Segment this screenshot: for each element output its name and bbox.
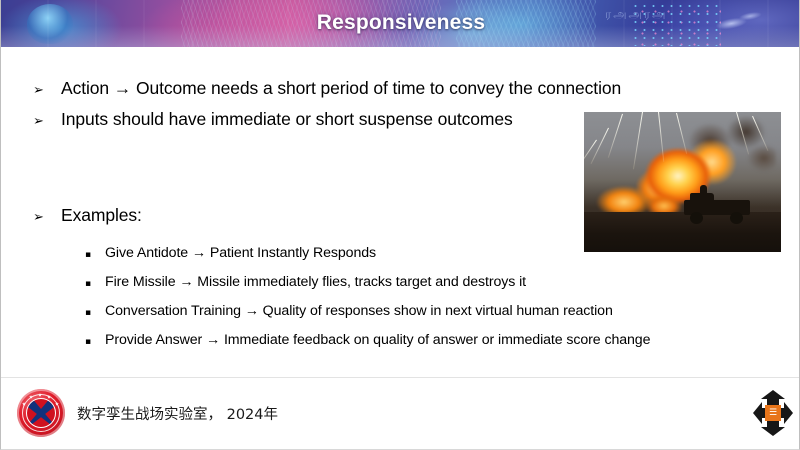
bullet-text: Action → Outcome needs a short period of… <box>61 78 621 99</box>
square-bullet-icon: ▪ <box>85 251 105 260</box>
bullet-text: Examples: <box>61 205 142 226</box>
vehicle-wheel <box>730 212 743 224</box>
photo-military-vehicle <box>680 190 756 224</box>
explosion-photo <box>584 112 781 252</box>
institute-seal-logo <box>17 389 65 437</box>
partner-logo-center: ☰ <box>765 405 781 421</box>
arrow-bullet-icon: ➢ <box>33 115 61 128</box>
sub-bullet-item-conversation-training: ▪ Conversation Training → Quality of res… <box>85 303 613 319</box>
seal-inner-disc <box>26 398 56 428</box>
footer-divider <box>1 377 800 378</box>
vehicle-wheel <box>690 212 703 224</box>
square-bullet-icon: ▪ <box>85 338 105 347</box>
sub-bullet-item-provide-answer: ▪ Provide Answer → Immediate feedback on… <box>85 332 650 348</box>
sub-bullet-text: Fire Missile → Missile immediately flies… <box>105 274 526 290</box>
partner-diamond-logo: ☰ <box>753 390 793 436</box>
square-bullet-icon: ▪ <box>85 280 105 289</box>
footer-caption: 数字孪生战场实验室， 2024年 <box>77 403 278 424</box>
slide-canvas: ரஅஅரஅ Responsiveness ➢ Action → Outcome … <box>0 0 800 450</box>
sub-bullet-text: Give Antidote → Patient Instantly Respon… <box>105 245 376 261</box>
sub-bullet-text: Provide Answer → Immediate feedback on q… <box>105 332 650 348</box>
sub-bullet-item-give-antidote: ▪ Give Antidote → Patient Instantly Resp… <box>85 245 376 261</box>
bullet-text: Inputs should have immediate or short su… <box>61 109 513 130</box>
bullet-item-inputs-suspense: ➢ Inputs should have immediate or short … <box>33 109 513 130</box>
page-title: Responsiveness <box>1 11 800 35</box>
bullet-item-examples: ➢ Examples: <box>33 205 142 226</box>
square-bullet-icon: ▪ <box>85 309 105 318</box>
arrow-bullet-icon: ➢ <box>33 211 61 224</box>
arrow-bullet-icon: ➢ <box>33 84 61 97</box>
bullet-item-action-outcome: ➢ Action → Outcome needs a short period … <box>33 78 621 99</box>
sub-bullet-item-fire-missile: ▪ Fire Missile → Missile immediately fli… <box>85 274 526 290</box>
sub-bullet-text: Conversation Training → Quality of respo… <box>105 303 613 319</box>
